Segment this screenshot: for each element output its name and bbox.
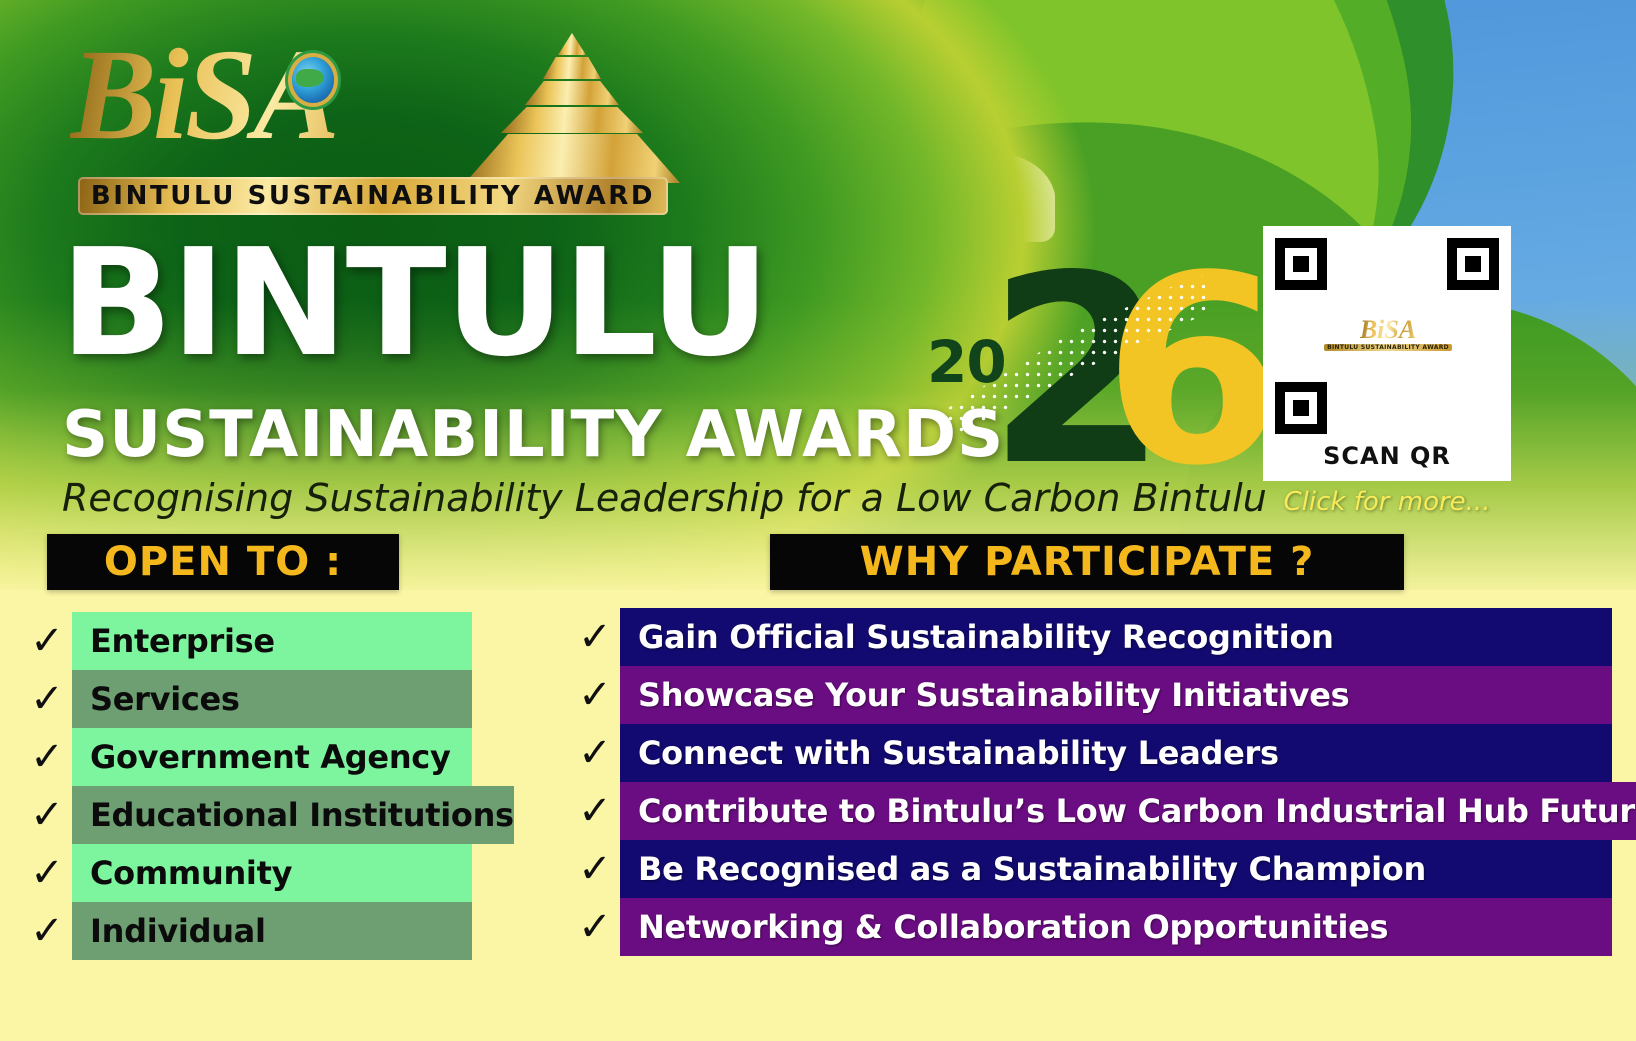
list-item-label: Individual xyxy=(72,902,472,960)
list-item: ✓ Educational Institutions xyxy=(22,786,472,844)
list-item-label: Educational Institutions xyxy=(72,786,514,844)
list-item: ✓ Connect with Sustainability Leaders xyxy=(570,724,1612,782)
list-item: ✓ Enterprise xyxy=(22,612,472,670)
open-to-heading-bar: OPEN TO : xyxy=(47,534,399,590)
list-item: ✓ Contribute to Bintulu’s Low Carbon Ind… xyxy=(570,782,1612,840)
check-icon: ✓ xyxy=(22,670,72,728)
qr-finder-icon xyxy=(1275,382,1327,434)
list-item-label: Contribute to Bintulu’s Low Carbon Indus… xyxy=(620,782,1636,840)
why-participate-heading-text: WHY PARTICIPATE ? xyxy=(860,539,1315,585)
list-item-label: Gain Official Sustainability Recognition xyxy=(620,608,1612,666)
check-icon: ✓ xyxy=(570,782,620,840)
check-icon: ✓ xyxy=(570,724,620,782)
list-item: ✓ Government Agency xyxy=(22,728,472,786)
check-icon: ✓ xyxy=(570,840,620,898)
list-item-label: Be Recognised as a Sustainability Champi… xyxy=(620,840,1612,898)
logo-ribbon-text: BINTULU SUSTAINABILITY AWARD xyxy=(91,181,655,211)
open-to-list: ✓ Enterprise ✓ Services ✓ Government Age… xyxy=(22,612,472,960)
pyramid-tier xyxy=(525,81,619,105)
list-item: ✓ Showcase Your Sustainability Initiativ… xyxy=(570,666,1612,724)
list-item: ✓ Gain Official Sustainability Recogniti… xyxy=(570,608,1612,666)
list-item: ✓ Networking & Collaboration Opportuniti… xyxy=(570,898,1612,956)
check-icon: ✓ xyxy=(22,844,72,902)
check-icon: ✓ xyxy=(22,612,72,670)
check-icon: ✓ xyxy=(22,728,72,786)
check-icon: ✓ xyxy=(570,608,620,666)
logo-ribbon: BINTULU SUSTAINABILITY AWARD xyxy=(78,177,668,215)
list-item-label: Government Agency xyxy=(72,728,472,786)
qr-code-image[interactable]: BiSA BINTULU SUSTAINABILITY AWARD xyxy=(1273,236,1501,436)
bisa-logo: BiSA BINTULU SUSTAINABILITY AWARD xyxy=(70,25,680,215)
pyramid-tier xyxy=(465,134,680,183)
poster-canvas: BiSA BINTULU SUSTAINABILITY AWARD BINTUL… xyxy=(0,0,1636,1041)
check-icon: ✓ xyxy=(22,902,72,960)
list-item: ✓ Be Recognised as a Sustainability Cham… xyxy=(570,840,1612,898)
list-item-label: Services xyxy=(72,670,472,728)
list-item-label: Networking & Collaboration Opportunities xyxy=(620,898,1612,956)
list-item-label: Enterprise xyxy=(72,612,472,670)
year-prefix: 20 xyxy=(927,328,1006,396)
qr-logo-ribbon: BINTULU SUSTAINABILITY AWARD xyxy=(1324,344,1452,351)
check-icon: ✓ xyxy=(570,666,620,724)
qr-click-for-more[interactable]: Click for more... xyxy=(1263,487,1511,517)
globe-icon xyxy=(292,57,334,103)
page-subtitle: SUSTAINABILITY AWARDS xyxy=(62,400,1004,470)
list-item: ✓ Services xyxy=(22,670,472,728)
list-item-label: Showcase Your Sustainability Initiatives xyxy=(620,666,1612,724)
check-icon: ✓ xyxy=(22,786,72,844)
qr-finder-icon xyxy=(1275,238,1327,290)
list-item-label: Connect with Sustainability Leaders xyxy=(620,724,1612,782)
check-icon: ✓ xyxy=(570,898,620,956)
page-title: BINTULU xyxy=(60,228,960,378)
pyramid-tier xyxy=(543,57,601,79)
list-item: ✓ Community xyxy=(22,844,472,902)
year-digit-6: 6 xyxy=(1103,242,1284,502)
year-graphic: 2 6 20 xyxy=(915,250,1215,510)
pyramid-tier xyxy=(501,107,643,133)
qr-center-logo: BiSA BINTULU SUSTAINABILITY AWARD xyxy=(1329,312,1447,356)
qr-code-card[interactable]: BiSA BINTULU SUSTAINABILITY AWARD SCAN Q… xyxy=(1263,226,1511,481)
qr-finder-icon xyxy=(1447,238,1499,290)
list-item: ✓ Individual xyxy=(22,902,472,960)
why-participate-heading-bar: WHY PARTICIPATE ? xyxy=(770,534,1404,590)
pyramid-icon xyxy=(465,33,680,183)
open-to-heading-text: OPEN TO : xyxy=(104,539,342,585)
qr-label: SCAN QR xyxy=(1273,442,1501,470)
list-item-label: Community xyxy=(72,844,472,902)
qr-logo-wordmark: BiSA xyxy=(1360,317,1416,343)
why-participate-list: ✓ Gain Official Sustainability Recogniti… xyxy=(570,608,1612,956)
pyramid-tier xyxy=(558,33,586,55)
